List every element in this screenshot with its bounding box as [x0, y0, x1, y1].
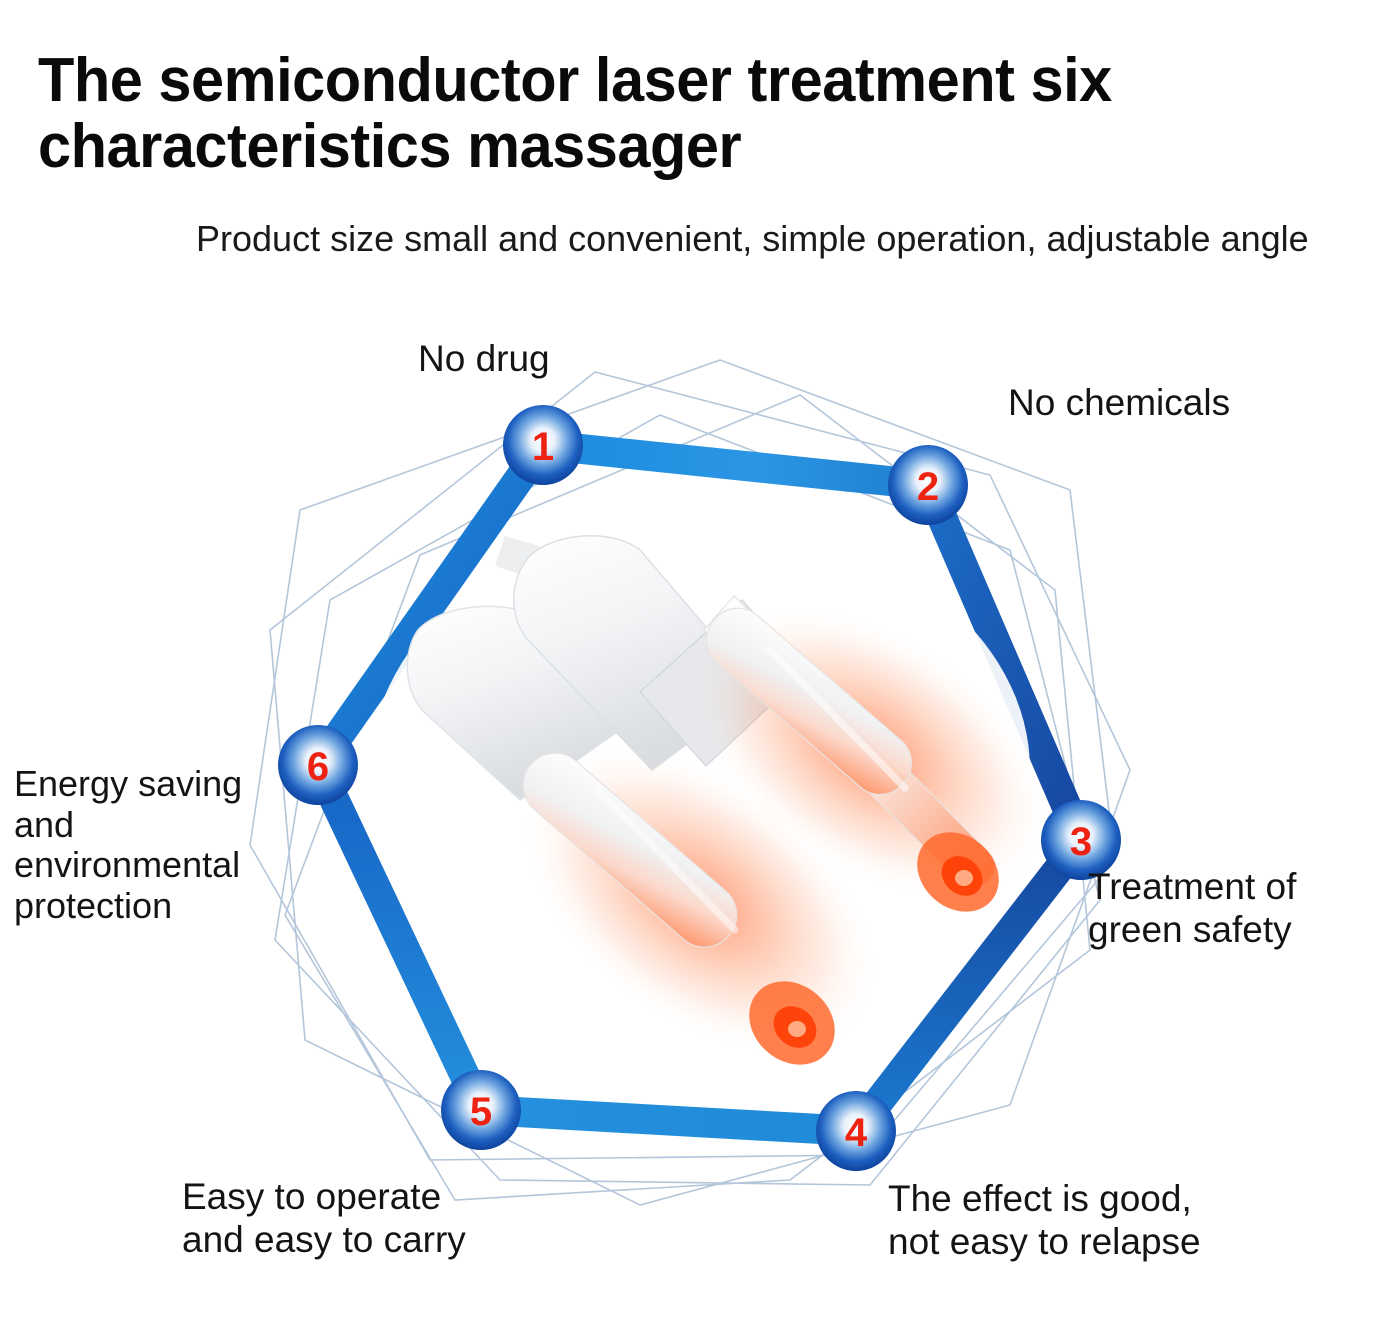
node-6[interactable]: 6	[278, 725, 358, 805]
node-1-label: No drug	[418, 338, 550, 381]
node-5-number: 5	[470, 1090, 492, 1134]
node-6-label: Energy saving and environmental protecti…	[14, 764, 242, 927]
node-3-label: Treatment of green safety	[1088, 866, 1296, 952]
page-subtitle: Product size small and convenient, simpl…	[196, 216, 1316, 262]
bar-4-5	[481, 1110, 856, 1131]
node-5[interactable]: 5	[441, 1070, 521, 1150]
node-2-number: 2	[917, 465, 939, 509]
node-5-label: Easy to operate and easy to carry	[182, 1176, 466, 1262]
node-2[interactable]: 2	[888, 445, 968, 525]
node-3-number: 3	[1070, 820, 1092, 864]
page-title: The semiconductor laser treatment six ch…	[38, 48, 1334, 182]
node-2-label: No chemicals	[1008, 382, 1230, 425]
hexagon-diagram: 1 2 3 4 5 6 No drug No	[0, 300, 1400, 1338]
node-4-number: 4	[845, 1111, 868, 1155]
node-6-number: 6	[307, 745, 329, 789]
node-4-label: The effect is good, not easy to relapse	[888, 1178, 1201, 1264]
node-1-number: 1	[532, 425, 554, 469]
node-4[interactable]: 4	[816, 1091, 896, 1171]
node-1[interactable]: 1	[503, 405, 583, 485]
